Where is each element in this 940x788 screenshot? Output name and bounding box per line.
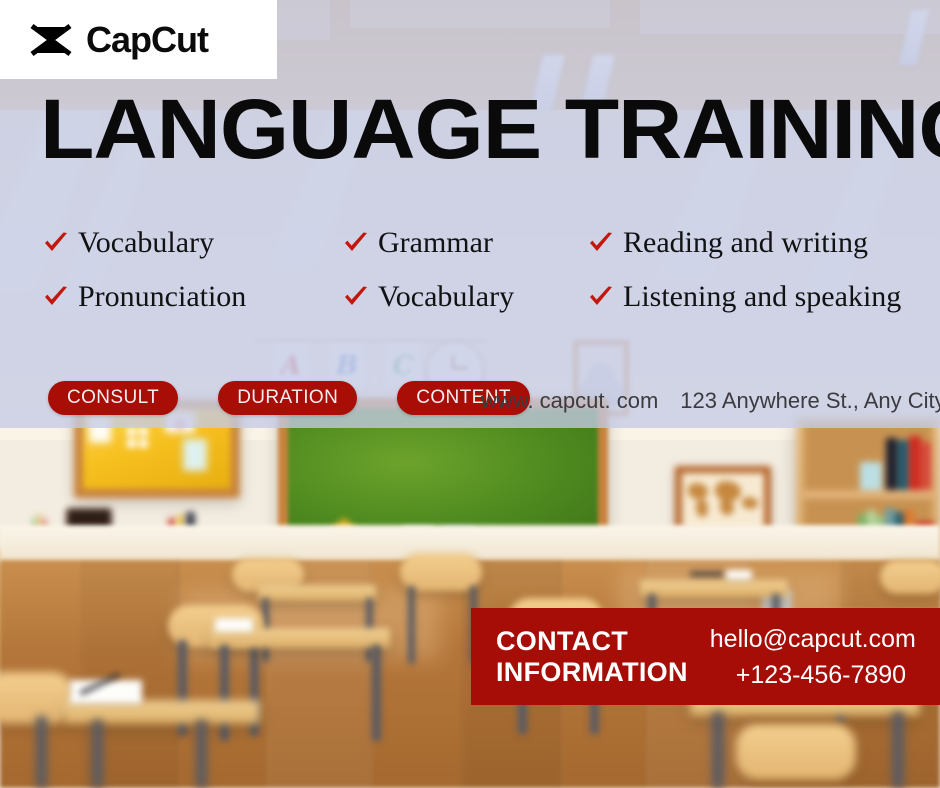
feature-label: Grammar	[378, 228, 493, 258]
contact-information-box: CONTACT INFORMATION hello@capcut.com +12…	[471, 608, 940, 705]
feature-label: Vocabulary	[378, 282, 514, 312]
page-title: LANGUAGE TRAINING	[40, 86, 940, 172]
feature-item-listening-speaking: Listening and speaking	[589, 282, 924, 312]
contact-values: hello@capcut.com +123-456-7890	[710, 621, 916, 693]
check-icon	[44, 232, 68, 254]
feature-item-vocabulary-1: Vocabulary	[44, 228, 344, 258]
poster-canvas: A B C	[0, 0, 940, 788]
desk-top	[258, 585, 376, 601]
contact-heading-line1: CONTACT	[496, 626, 688, 657]
website-text[interactable]: www. capcut. com	[481, 388, 658, 414]
check-icon	[589, 232, 613, 254]
check-icon	[344, 286, 368, 308]
feature-row: Vocabulary Grammar Reading and writing	[44, 228, 924, 258]
feature-label: Reading and writing	[623, 228, 868, 258]
capcut-logo-text: CapCut	[86, 19, 208, 61]
feature-label: Listening and speaking	[623, 282, 901, 312]
feature-item-vocabulary-2: Vocabulary	[344, 282, 589, 312]
feature-list: Vocabulary Grammar Reading and writing	[44, 228, 924, 312]
capcut-logo-icon	[28, 23, 74, 57]
capcut-logo: CapCut	[0, 0, 277, 79]
contact-heading-line2: INFORMATION	[496, 657, 688, 688]
contact-email[interactable]: hello@capcut.com	[710, 621, 916, 657]
pill-button-group: CONSULT DURATION CONTENT	[48, 381, 530, 415]
check-icon	[44, 286, 68, 308]
desk-top	[640, 580, 788, 597]
feature-label: Vocabulary	[78, 228, 214, 258]
chair-back	[880, 560, 940, 594]
chair-back	[736, 724, 856, 780]
feature-item-pronunciation: Pronunciation	[44, 282, 344, 312]
feature-item-reading-writing: Reading and writing	[589, 228, 924, 258]
duration-button[interactable]: DURATION	[218, 381, 357, 415]
check-icon	[344, 232, 368, 254]
contact-phone[interactable]: +123-456-7890	[710, 657, 916, 693]
address-text: 123 Anywhere St., Any City	[680, 388, 940, 414]
feature-row: Pronunciation Vocabulary Listening and s…	[44, 282, 924, 312]
feature-label: Pronunciation	[78, 282, 246, 312]
consult-button[interactable]: CONSULT	[48, 381, 178, 415]
info-line: www. capcut. com 123 Anywhere St., Any C…	[481, 388, 940, 414]
feature-item-grammar: Grammar	[344, 228, 589, 258]
contact-information-heading: CONTACT INFORMATION	[496, 626, 688, 688]
check-icon	[589, 286, 613, 308]
